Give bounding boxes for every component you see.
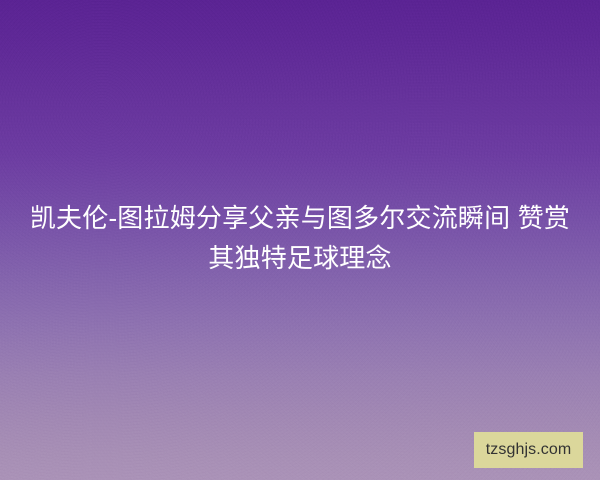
image-canvas: 凯夫伦-图拉姆分享父亲与图多尔交流瞬间 赞赏其独特足球理念 tzsghjs.co… xyxy=(0,0,600,480)
page-title: 凯夫伦-图拉姆分享父亲与图多尔交流瞬间 赞赏其独特足球理念 xyxy=(0,198,600,278)
watermark-label: tzsghjs.com xyxy=(486,441,572,459)
watermark-badge: tzsghjs.com xyxy=(474,432,583,468)
